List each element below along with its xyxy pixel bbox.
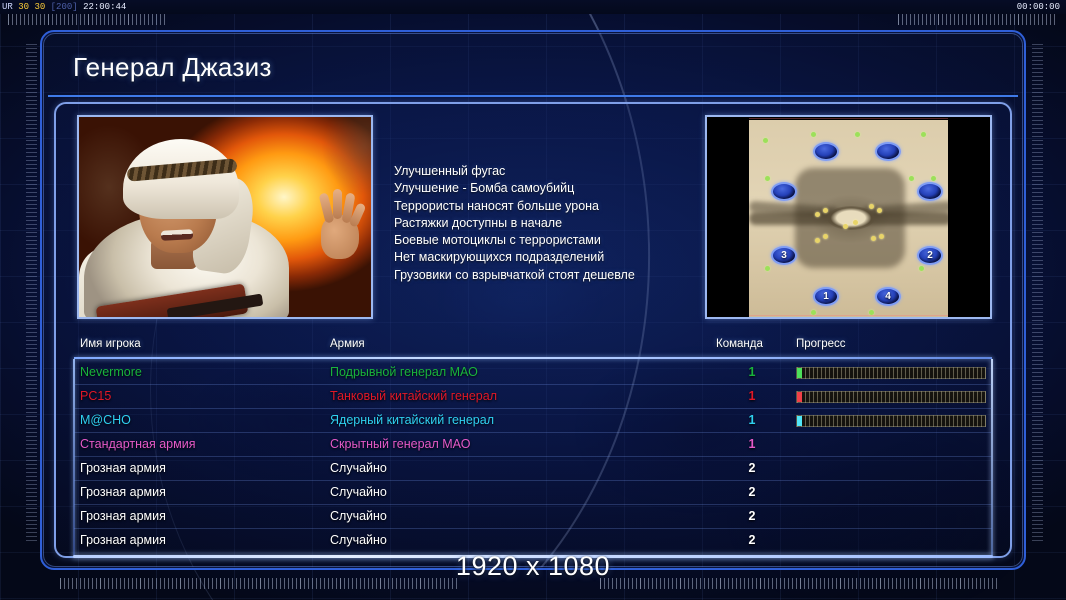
debug-token-fps2: 30: [34, 2, 45, 12]
player-team-cell[interactable]: 2: [744, 509, 760, 523]
ruler-top-right: [898, 14, 1058, 25]
map-oil-marker: [823, 208, 828, 213]
ability-line: Растяжки доступны в начале: [394, 215, 694, 232]
map-supply-marker: [763, 138, 768, 143]
map-oil-marker: [815, 238, 820, 243]
column-header-player-name: Имя игрока: [80, 338, 141, 350]
player-progress-bar: [796, 415, 986, 427]
ruler-top-left: [8, 14, 168, 25]
map-edge-top: [749, 118, 952, 119]
ability-line: Грузовики со взрывчаткой стоят дешевле: [394, 267, 694, 284]
map-start-position: [875, 142, 901, 161]
map-oil-marker: [823, 234, 828, 239]
player-name-cell: Стандартная армия: [80, 437, 195, 451]
map-start-position: [917, 182, 943, 201]
player-team-cell[interactable]: 1: [744, 413, 760, 427]
map-supply-marker: [765, 176, 770, 181]
page-title: Генерал Джазиз: [73, 52, 272, 83]
map-supply-marker: [919, 266, 924, 271]
progress-fill: [797, 416, 802, 426]
map-oil-marker: [869, 204, 874, 209]
player-army-cell[interactable]: Случайно: [330, 485, 387, 499]
general-portrait: [77, 115, 373, 319]
player-army-cell[interactable]: Случайно: [330, 509, 387, 523]
general-ability-list: Улучшенный фугас Улучшение - Бомба самоу…: [394, 163, 694, 284]
resolution-label: 1920 x 1080: [0, 551, 1066, 582]
progress-track: [796, 367, 986, 379]
player-team-cell[interactable]: 2: [744, 533, 760, 547]
portrait-mouth: [161, 229, 193, 241]
player-name-cell: PC15: [80, 389, 111, 403]
table-row[interactable]: Стандартная армияСкрытный генерал МАО1: [74, 433, 992, 457]
map-edge-bottom: [749, 315, 952, 316]
ability-line: Улучшенный фугас: [394, 163, 694, 180]
ability-line: Террористы наносят больше урона: [394, 198, 694, 215]
player-army-cell[interactable]: Случайно: [330, 461, 387, 475]
debug-status-text: UR 30 30 [200] 22:00:44: [2, 0, 126, 14]
map-supply-marker: [921, 132, 926, 137]
ability-line: Нет маскирующихся подразделений: [394, 249, 694, 266]
map-oil-marker: [871, 236, 876, 241]
debug-token-fps: 30: [18, 2, 29, 12]
column-header-army: Армия: [330, 338, 365, 350]
progress-fill: [797, 392, 802, 402]
portrait-hand: [315, 193, 363, 259]
map-preview[interactable]: 3214: [705, 115, 992, 319]
column-header-progress: Прогресс: [796, 338, 846, 350]
map-oil-marker: [815, 212, 820, 217]
map-start-position: 2: [917, 246, 943, 265]
map-start-position: [771, 182, 797, 201]
player-rows-container: NevermoreПодрывной генерал МАО1PC15Танко…: [74, 361, 992, 557]
map-oil-marker: [877, 208, 882, 213]
map-supply-marker: [811, 132, 816, 137]
map-start-position: 4: [875, 287, 901, 306]
player-army-cell[interactable]: Ядерный китайский генерал: [330, 413, 494, 427]
player-army-cell[interactable]: Случайно: [330, 533, 387, 547]
map-start-position: 1: [813, 287, 839, 306]
player-team-cell[interactable]: 1: [744, 365, 760, 379]
player-name-cell: Грозная армия: [80, 485, 166, 499]
table-row[interactable]: M@CHOЯдерный китайский генерал1: [74, 409, 992, 433]
progress-track: [796, 415, 986, 427]
map-center-feature: [827, 206, 875, 230]
map-oil-marker: [843, 224, 848, 229]
table-row[interactable]: Грозная армияСлучайно2: [74, 529, 992, 553]
table-row[interactable]: PC15Танковый китайский генерал1: [74, 385, 992, 409]
player-army-cell[interactable]: Скрытный генерал МАО: [330, 437, 470, 451]
player-name-cell: Грозная армия: [80, 509, 166, 523]
ruler-right-vertical: [1032, 44, 1043, 544]
table-row[interactable]: Грозная армияСлучайно2: [74, 457, 992, 481]
player-name-cell: Грозная армия: [80, 461, 166, 475]
map-oil-marker: [853, 220, 858, 225]
player-name-cell: Nevermore: [80, 365, 142, 379]
map-supply-marker: [931, 176, 936, 181]
column-header-team: Команда: [716, 338, 763, 350]
player-army-cell[interactable]: Танковый китайский генерал: [330, 389, 497, 403]
debug-token-bracket: [200]: [51, 2, 78, 12]
progress-fill: [797, 368, 802, 378]
table-header-row: Имя игрока Армия Команда Прогресс: [74, 338, 992, 358]
player-name-cell: Грозная армия: [80, 533, 166, 547]
player-name-cell: M@CHO: [80, 413, 131, 427]
debug-token-clock: 22:00:44: [83, 2, 126, 12]
player-team-cell[interactable]: 1: [744, 389, 760, 403]
ability-line: Боевые мотоциклы с террористами: [394, 232, 694, 249]
map-supply-marker: [909, 176, 914, 181]
table-row[interactable]: Грозная армияСлучайно2: [74, 505, 992, 529]
map-start-position: [813, 142, 839, 161]
player-progress-bar: [796, 367, 986, 379]
player-team-cell[interactable]: 2: [744, 461, 760, 475]
player-list-table: Имя игрока Армия Команда Прогресс: [74, 338, 992, 358]
map-supply-marker: [765, 266, 770, 271]
player-army-cell[interactable]: Подрывной генерал МАО: [330, 365, 478, 379]
game-timer: 00:00:00: [1017, 0, 1060, 14]
map-letterbox-left: [707, 117, 749, 319]
ruler-left-vertical: [26, 44, 37, 544]
table-header-rule: [74, 357, 992, 359]
table-row[interactable]: NevermoreПодрывной генерал МАО1: [74, 361, 992, 385]
map-supply-marker: [855, 132, 860, 137]
map-terrain: 3214: [749, 120, 952, 318]
table-row[interactable]: Грозная армияСлучайно2: [74, 481, 992, 505]
map-letterbox-right: [948, 117, 990, 319]
top-status-bar: UR 30 30 [200] 22:00:44 00:00:00: [0, 0, 1066, 14]
player-team-cell[interactable]: 2: [744, 485, 760, 499]
map-start-position: 3: [771, 246, 797, 265]
player-team-cell[interactable]: 1: [744, 437, 760, 451]
ability-line: Улучшение - Бомба самоубийц: [394, 180, 694, 197]
debug-token-ur: UR: [2, 2, 13, 12]
map-oil-marker: [879, 234, 884, 239]
progress-track: [796, 391, 986, 403]
player-progress-bar: [796, 391, 986, 403]
